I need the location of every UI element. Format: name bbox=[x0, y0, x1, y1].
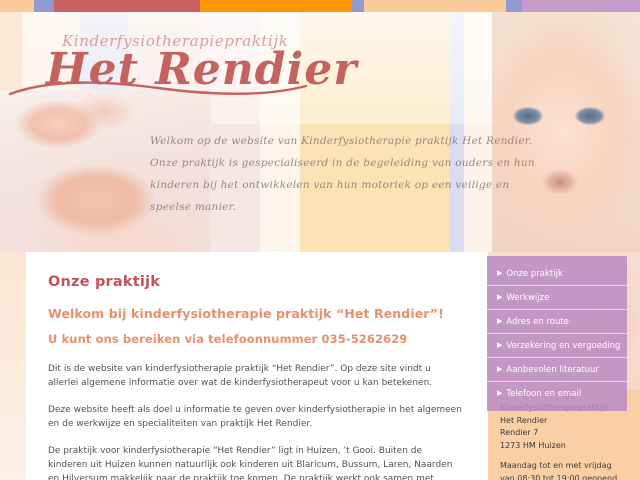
address-line: Het Rendier bbox=[500, 415, 640, 428]
nav-arrow-icon: ▶ bbox=[497, 339, 502, 351]
site-logo[interactable]: Kinderfysiotherapiepraktijk Het Rendier bbox=[46, 32, 357, 94]
top-color-stripe bbox=[0, 0, 640, 12]
nav-arrow-icon: ▶ bbox=[497, 267, 502, 279]
nav-item-aanbevolen-literatuur[interactable]: ▶Aanbevolen literatuur bbox=[487, 358, 627, 382]
nav-item-onze-praktijk[interactable]: ▶Onze praktijk bbox=[487, 262, 627, 286]
nav-item-adres-en-route[interactable]: ▶Adres en route bbox=[487, 310, 627, 334]
nav-item-label: Werkwijze bbox=[506, 293, 549, 303]
body-paragraphs: Dit is de website van kinderfysiotherapi… bbox=[48, 362, 462, 480]
opening-hours-line: van 08:30 tot 19:00 geopend bbox=[500, 473, 640, 480]
stripe-band-periwinkle bbox=[352, 0, 364, 12]
nav-item-label: Aanbevolen literatuur bbox=[506, 365, 599, 375]
stripe-band-orange bbox=[200, 0, 352, 12]
page-root: Kinderfysiotherapiepraktijk Het Rendier … bbox=[0, 0, 640, 480]
body-paragraph: Dit is de website van kinderfysiotherapi… bbox=[48, 362, 462, 390]
opening-hours-line: Maandag tot en met vrijdag bbox=[500, 460, 640, 473]
page-title: Onze praktijk bbox=[48, 274, 462, 290]
hero-line: speelse manier. bbox=[150, 196, 500, 218]
address-line: Rendier 7 bbox=[500, 427, 640, 440]
main-content-panel: Onze praktijk Welkom bij kinderfysiother… bbox=[26, 252, 488, 480]
body-paragraph: Deze website heeft als doel u informatie… bbox=[48, 403, 462, 431]
sidebar-navigation[interactable]: ▶Onze praktijk▶Werkwijze▶Adres en route▶… bbox=[487, 256, 627, 411]
stripe-band-peach bbox=[0, 0, 34, 12]
nav-arrow-icon: ▶ bbox=[497, 387, 502, 399]
stripe-band-periwinkle bbox=[506, 0, 522, 12]
hero-line: Welkom op de website van Kinderfysiother… bbox=[150, 130, 500, 152]
hero-line: Onze praktijk is gespecialiseerd in de b… bbox=[150, 152, 500, 174]
address-line: 1273 HM Huizen bbox=[500, 440, 640, 453]
hero-welcome-text: Welkom op de website van Kinderfysiother… bbox=[150, 130, 500, 218]
nav-item-label: Verzekering en vergoeding bbox=[506, 341, 620, 351]
logo-title: Het Rendier bbox=[46, 46, 357, 94]
nav-arrow-icon: ▶ bbox=[497, 291, 502, 303]
nav-item-label: Onze praktijk bbox=[506, 269, 562, 279]
hero-line: kinderen bij het ontwikkelen van hun mot… bbox=[150, 174, 500, 196]
stripe-band-periwinkle bbox=[34, 0, 54, 12]
nav-item-werkwijze[interactable]: ▶Werkwijze bbox=[487, 286, 627, 310]
left-background-strip bbox=[0, 252, 26, 480]
address-spacer bbox=[500, 452, 640, 460]
header-hero: Kinderfysiotherapiepraktijk Het Rendier … bbox=[0, 12, 640, 260]
stripe-band-mauve bbox=[522, 0, 640, 12]
stripe-band-rose bbox=[54, 0, 200, 12]
stripe-band-peach bbox=[364, 0, 506, 12]
nav-arrow-icon: ▶ bbox=[497, 315, 502, 327]
phone-heading: U kunt ons bereiken via telefoonnummer 0… bbox=[48, 332, 462, 346]
body-paragraph: De praktijk voor kinderfysiotherapie “He… bbox=[48, 444, 462, 480]
nav-item-label: Telefoon en email bbox=[506, 389, 581, 399]
nav-item-label: Adres en route bbox=[506, 317, 569, 327]
welcome-heading: Welkom bij kinderfysiotherapie praktijk … bbox=[48, 306, 462, 321]
nav-item-telefoon-en-email[interactable]: ▶Telefoon en email bbox=[487, 382, 627, 405]
nav-item-verzekering-en-vergoeding[interactable]: ▶Verzekering en vergoeding bbox=[487, 334, 627, 358]
nav-arrow-icon: ▶ bbox=[497, 363, 502, 375]
